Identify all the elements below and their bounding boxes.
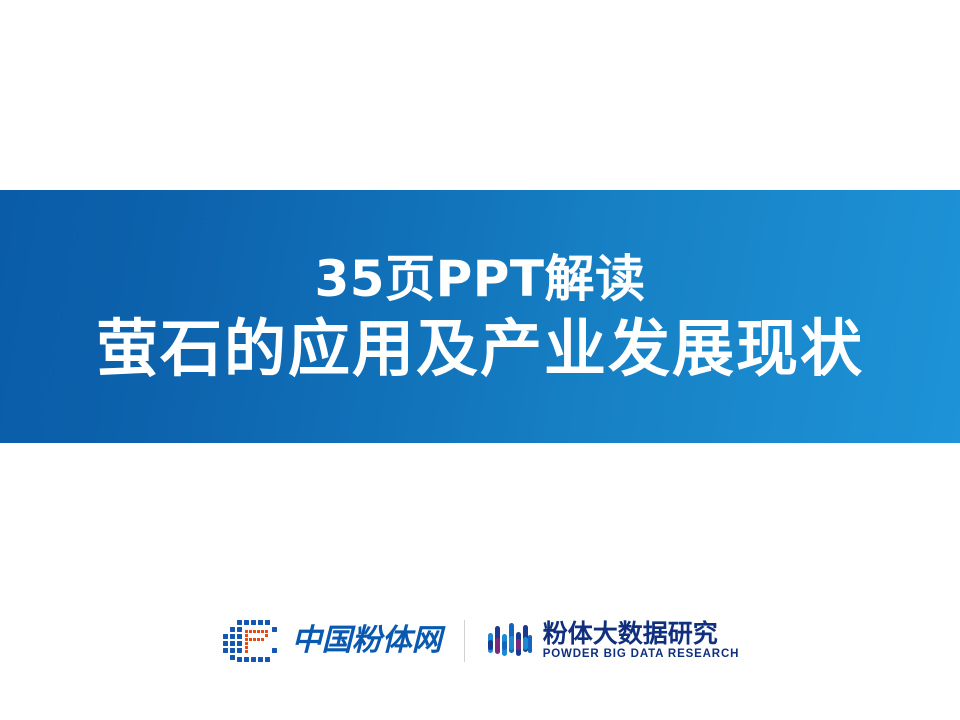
logo-divider	[464, 620, 465, 662]
logo-powder-big-data-label-cn: 粉体大数据研究	[543, 621, 718, 648]
logo-powder-big-data-label-en: POWDER BIG DATA RESEARCH	[543, 648, 740, 661]
logo-powder-big-data-text: 粉体大数据研究 POWDER BIG DATA RESEARCH	[543, 621, 740, 661]
title-line-primary: 35页PPT解读	[315, 254, 646, 304]
title-banner: 35页PPT解读 萤石的应用及产业发展现状	[0, 190, 960, 443]
pixel-c-f-logo-icon	[221, 619, 283, 663]
logo-chinese-powder-net[interactable]: 中国粉体网	[221, 619, 442, 663]
footer-logo-lockup: 中国粉体网	[0, 608, 960, 674]
title-line-secondary: 萤石的应用及产业发展现状	[96, 318, 864, 380]
logo-chinese-powder-net-label: 中国粉体网	[292, 626, 442, 656]
bar-chart-logo-icon	[487, 618, 533, 664]
title-slide: 35页PPT解读 萤石的应用及产业发展现状	[0, 0, 960, 720]
logo-powder-big-data-research[interactable]: 粉体大数据研究 POWDER BIG DATA RESEARCH	[487, 618, 740, 664]
